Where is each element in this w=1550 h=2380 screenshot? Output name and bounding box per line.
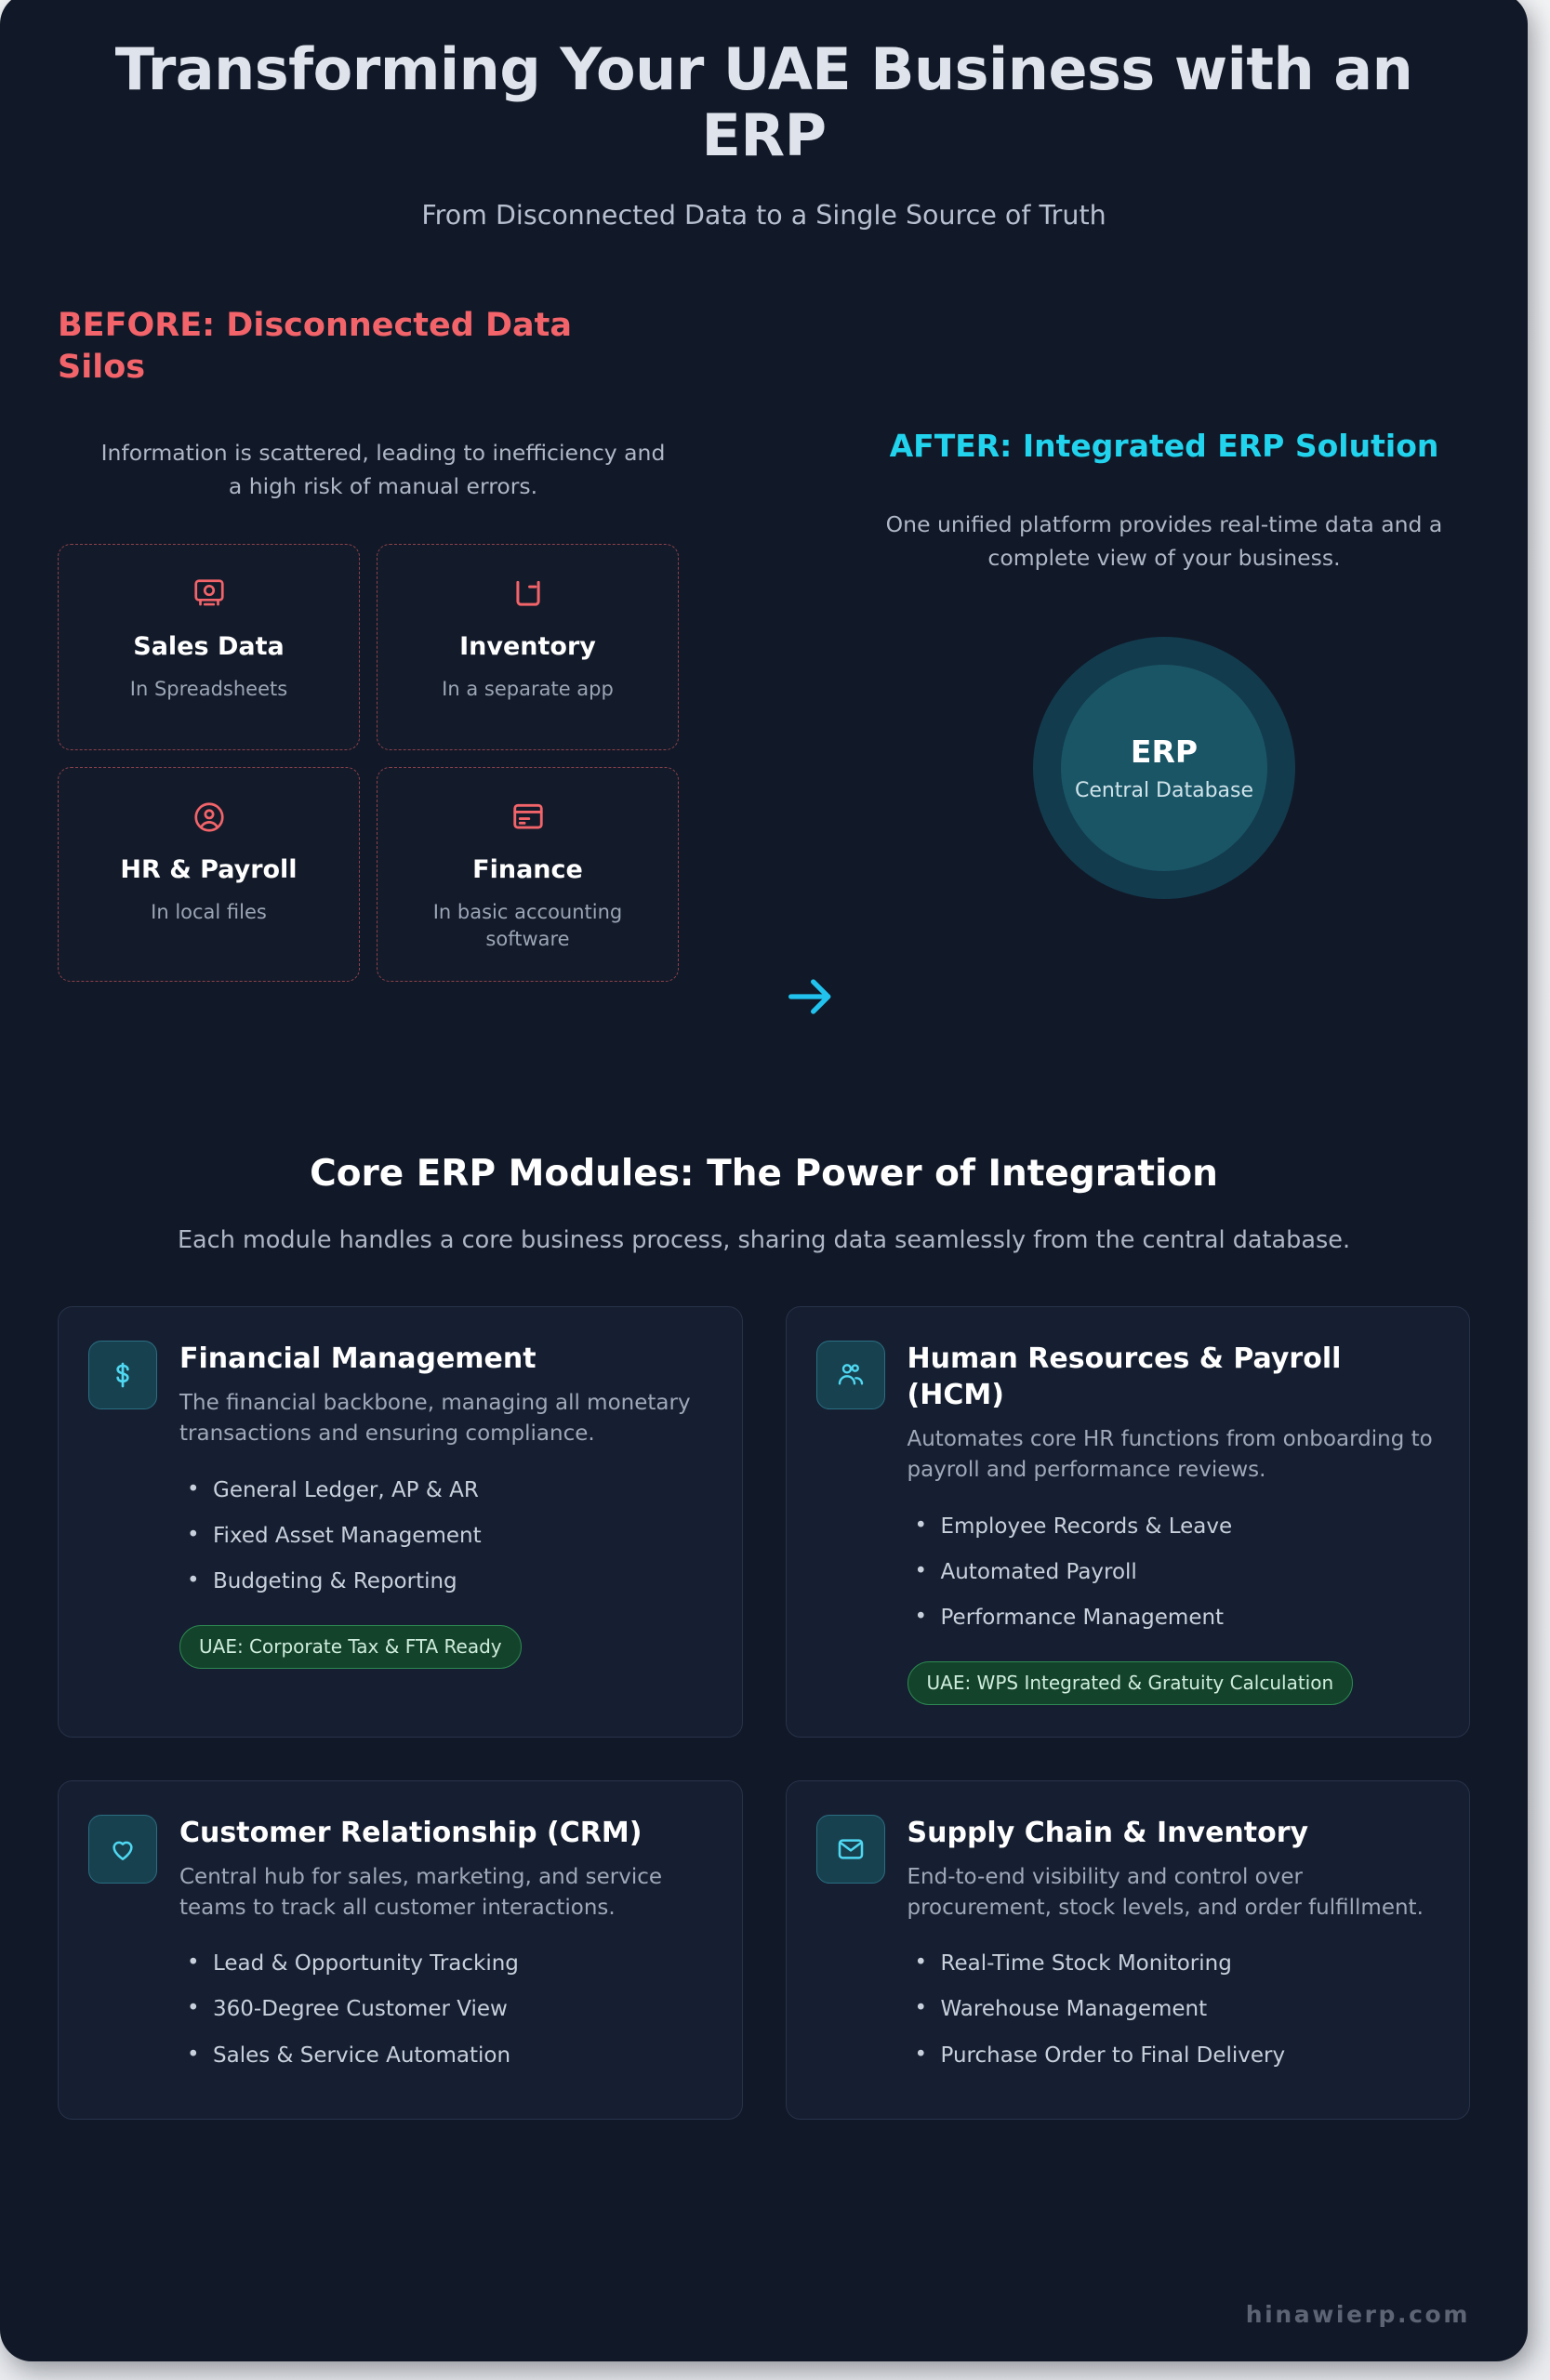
module-card-financial-management[interactable]: Financial Management The financial backb… — [58, 1306, 743, 1737]
module-feature-item: General Ledger, AP & AR — [179, 1476, 712, 1504]
silo-card[interactable]: Inventory In a separate app — [377, 544, 679, 750]
arrow-right-icon — [781, 967, 841, 1030]
module-feature-item: Employee Records & Leave — [907, 1513, 1440, 1540]
erp-orb-sublabel: Central Database — [1075, 779, 1253, 802]
silo-sub: In a separate app — [442, 676, 614, 703]
modules-header: Core ERP Modules: The Power of Integrati… — [58, 1153, 1470, 1254]
heart-icon — [88, 1815, 157, 1884]
data-silo-grid: Sales Data In Spreadsheets Inventory — [58, 544, 679, 982]
users-group-icon — [816, 1341, 885, 1409]
module-feature-item: Lead & Opportunity Tracking — [179, 1950, 712, 1977]
module-description: Central hub for sales, marketing, and se… — [179, 1862, 712, 1924]
infographic-panel: Transforming Your UAE Business with an E… — [0, 0, 1528, 2361]
erp-orb-label: ERP — [1131, 734, 1198, 770]
module-card-supply-chain-inventory[interactable]: Supply Chain & Inventory End-to-end visi… — [786, 1780, 1471, 2120]
erp-central-database-orb[interactable]: ERP Central Database — [1061, 665, 1267, 871]
module-feature-item: Warehouse Management — [907, 1995, 1440, 2023]
module-feature-list: Employee Records & Leave Automated Payro… — [907, 1513, 1440, 1633]
silo-sub: In Spreadsheets — [130, 676, 287, 703]
module-feature-item: Real-Time Stock Monitoring — [907, 1950, 1440, 1977]
module-grid: Financial Management The financial backb… — [58, 1306, 1470, 2120]
uae-compliance-badge: UAE: WPS Integrated & Gratuity Calculati… — [907, 1661, 1354, 1705]
before-title: BEFORE: Disconnected Data Silos — [58, 305, 616, 389]
silo-card[interactable]: Finance In basic accounting software — [377, 767, 679, 982]
module-feature-item: Fixed Asset Management — [179, 1522, 712, 1550]
silo-name: Inventory — [459, 632, 596, 661]
uae-compliance-badge: UAE: Corporate Tax & FTA Ready — [179, 1625, 522, 1669]
infographic-page: Transforming Your UAE Business with an E… — [0, 0, 1550, 2380]
module-description: Automates core HR functions from onboard… — [907, 1424, 1440, 1486]
module-feature-item: 360-Degree Customer View — [179, 1995, 712, 2023]
module-description: End-to-end visibility and control over p… — [907, 1862, 1440, 1924]
silo-sub: In basic accounting software — [391, 899, 665, 953]
before-description: Information is scattered, leading to ine… — [58, 437, 709, 503]
module-feature-item: Performance Management — [907, 1604, 1440, 1632]
user-circle-icon — [192, 798, 227, 837]
page-subtitle: From Disconnected Data to a Single Sourc… — [58, 200, 1470, 231]
erp-orb-halo: ERP Central Database — [1033, 637, 1295, 899]
module-title: Customer Relationship (CRM) — [179, 1815, 712, 1851]
sales-chart-icon — [192, 575, 227, 614]
after-title: AFTER: Integrated ERP Solution — [839, 428, 1490, 464]
silo-sub: In local files — [151, 899, 267, 926]
envelope-icon — [816, 1815, 885, 1884]
silo-card[interactable]: HR & Payroll In local files — [58, 767, 360, 982]
credit-card-icon — [510, 798, 546, 837]
before-column: BEFORE: Disconnected Data Silos Informat… — [58, 305, 709, 982]
silo-name: Sales Data — [133, 632, 284, 661]
silo-card[interactable]: Sales Data In Spreadsheets — [58, 544, 360, 750]
before-after-section: BEFORE: Disconnected Data Silos Informat… — [58, 305, 1470, 1067]
module-feature-item: Budgeting & Reporting — [179, 1567, 712, 1595]
module-title: Financial Management — [179, 1341, 712, 1377]
module-feature-list: Real-Time Stock Monitoring Warehouse Man… — [907, 1950, 1440, 2069]
module-card-customer-relationship[interactable]: Customer Relationship (CRM) Central hub … — [58, 1780, 743, 2120]
inventory-box-icon — [510, 575, 546, 614]
module-title: Supply Chain & Inventory — [907, 1815, 1440, 1851]
after-column: AFTER: Integrated ERP Solution One unifi… — [839, 428, 1490, 898]
hero-header: Transforming Your UAE Business with an E… — [58, 0, 1470, 231]
erp-orb-wrapper: ERP Central Database — [839, 637, 1490, 899]
module-feature-item: Automated Payroll — [907, 1558, 1440, 1586]
after-description: One unified platform provides real-time … — [839, 509, 1490, 575]
module-card-human-resources-payroll[interactable]: Human Resources & Payroll (HCM) Automate… — [786, 1306, 1471, 1737]
dollar-sign-icon — [88, 1341, 157, 1409]
site-watermark: hinawierp.com — [1246, 2301, 1470, 2328]
module-description: The financial backbone, managing all mon… — [179, 1388, 712, 1449]
modules-subtitle: Each module handles a core business proc… — [58, 1226, 1470, 1254]
module-feature-item: Sales & Service Automation — [179, 2042, 712, 2069]
silo-name: Finance — [472, 855, 583, 884]
module-feature-list: General Ledger, AP & AR Fixed Asset Mana… — [179, 1476, 712, 1596]
modules-title: Core ERP Modules: The Power of Integrati… — [58, 1153, 1470, 1195]
module-feature-item: Purchase Order to Final Delivery — [907, 2042, 1440, 2069]
page-title: Transforming Your UAE Business with an E… — [58, 37, 1470, 168]
module-title: Human Resources & Payroll (HCM) — [907, 1341, 1440, 1413]
silo-name: HR & Payroll — [120, 855, 297, 884]
module-feature-list: Lead & Opportunity Tracking 360-Degree C… — [179, 1950, 712, 2069]
